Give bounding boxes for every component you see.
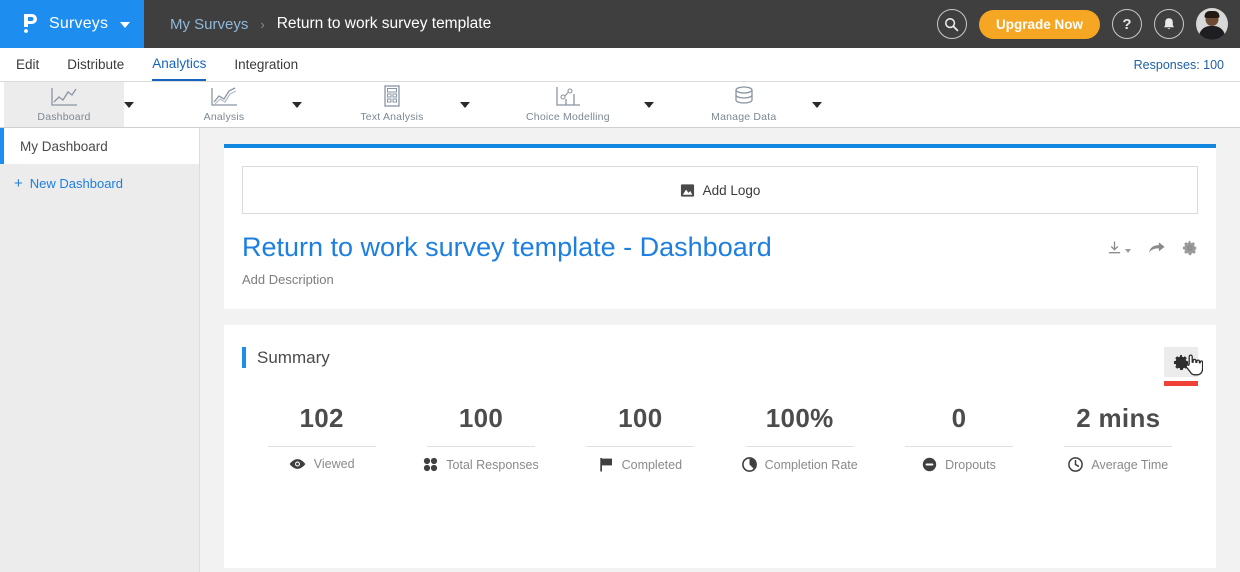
new-dashboard-button[interactable]: + New Dashboard [0, 164, 199, 202]
toolbar-text-analysis-inner: Text Analysis [332, 82, 452, 127]
search-button[interactable] [937, 9, 967, 39]
upgrade-now-button[interactable]: Upgrade Now [979, 10, 1100, 39]
workspace: My Dashboard + New Dashboard Add Logo Re… [0, 128, 1240, 572]
dashboard-header-card: Add Logo Return to work survey template … [224, 144, 1216, 309]
download-caret-icon[interactable] [1125, 249, 1131, 253]
metric-label: Completion Rate [765, 458, 858, 472]
metric-label: Average Time [1091, 458, 1168, 472]
summary-settings-button[interactable] [1164, 347, 1198, 377]
toolbar-choice-modelling-caret-icon[interactable] [644, 102, 654, 108]
tab-distribute[interactable]: Distribute [67, 48, 124, 81]
summary-accent-bar [242, 347, 246, 368]
metric-divider [1064, 446, 1172, 447]
bell-icon [1162, 17, 1176, 32]
four-dots-icon [423, 457, 438, 472]
database-icon [731, 86, 757, 108]
question-mark-icon: ? [1122, 17, 1131, 32]
text-grid-icon [381, 86, 403, 108]
toolbar-dashboard-inner: Dashboard [4, 82, 124, 127]
toolbar-item-analysis[interactable]: Analysis [160, 82, 328, 127]
eye-icon [289, 458, 306, 470]
breadcrumb-my-surveys[interactable]: My Surveys [170, 16, 248, 33]
download-icon [1107, 240, 1122, 256]
metric-divider [746, 446, 854, 447]
toolbar-item-manage-data[interactable]: Manage Data [680, 82, 848, 127]
metric-foot: Completed [599, 457, 682, 472]
breadcrumb: My Surveys › Return to work survey templ… [144, 0, 937, 48]
share-button[interactable] [1147, 240, 1166, 256]
metric-value: 100 [459, 403, 503, 434]
metric-divider [268, 446, 376, 447]
toolbar-analysis-caret-icon[interactable] [292, 102, 302, 108]
add-logo-button[interactable]: Add Logo [242, 166, 1198, 214]
summary-metrics: 102 Viewed 100 [242, 403, 1198, 472]
toolbar-manage-data-caret-icon[interactable] [812, 102, 822, 108]
metric-value: 2 mins [1076, 403, 1160, 434]
metric-divider [905, 446, 1013, 447]
metric-completion-rate: 100% Completion Rate [720, 403, 879, 472]
metric-foot: Total Responses [423, 457, 538, 472]
new-dashboard-label: New Dashboard [30, 176, 123, 191]
analytics-toolbar: Dashboard Analysis [0, 82, 1240, 128]
toolbar-analysis-inner: Analysis [164, 82, 284, 127]
top-header: Surveys My Surveys › Return to work surv… [0, 0, 1240, 48]
dashboard-content: Add Logo Return to work survey template … [200, 128, 1240, 572]
area-chart-icon [209, 86, 239, 108]
metric-average-time: 2 mins Average Time [1039, 403, 1198, 472]
pie-chart-icon [742, 457, 757, 472]
highlight-underline [1164, 381, 1198, 386]
minus-circle-icon [922, 457, 937, 472]
metric-foot: Viewed [289, 457, 355, 471]
user-avatar[interactable] [1196, 8, 1228, 40]
metric-label: Dropouts [945, 458, 996, 472]
summary-header: Summary [242, 347, 1198, 377]
metric-foot: Completion Rate [742, 457, 858, 472]
gear-icon [1173, 354, 1190, 371]
sidebar-item-my-dashboard[interactable]: My Dashboard [0, 128, 199, 164]
toolbar-analysis-label: Analysis [204, 111, 245, 123]
metric-divider [427, 446, 535, 447]
summary-title: Summary [257, 348, 330, 368]
toolbar-dashboard-label: Dashboard [37, 111, 90, 123]
breadcrumb-separator-icon: › [260, 17, 264, 32]
page-title[interactable]: Return to work survey template - Dashboa… [242, 232, 1107, 263]
line-chart-icon [49, 86, 79, 108]
scatter-chart-icon [554, 86, 582, 108]
dashboard-title-actions [1107, 232, 1198, 256]
summary-title-wrap: Summary [242, 347, 1164, 368]
avatar-body [1199, 26, 1225, 40]
flag-icon [599, 457, 614, 472]
metric-dropouts: 0 Dropouts [879, 403, 1038, 472]
toolbar-text-analysis-label: Text Analysis [360, 111, 423, 123]
add-logo-label: Add Logo [703, 183, 761, 198]
metric-total-responses: 100 Total Responses [401, 403, 560, 472]
p-logo-icon [20, 12, 40, 36]
metric-divider [586, 446, 694, 447]
primary-tabstrip: Edit Distribute Analytics Integration Re… [0, 48, 1240, 82]
metric-label: Total Responses [446, 458, 538, 472]
primary-tabs: Edit Distribute Analytics Integration [16, 48, 298, 81]
add-description-button[interactable]: Add Description [242, 272, 1198, 287]
plus-icon: + [14, 176, 23, 191]
metric-completed: 100 Completed [561, 403, 720, 472]
chevron-down-icon[interactable] [120, 22, 130, 28]
metric-foot: Dropouts [922, 457, 996, 472]
dashboard-title-row: Return to work survey template - Dashboa… [242, 232, 1198, 263]
header-actions: Upgrade Now ? [937, 0, 1240, 48]
metric-value: 0 [952, 403, 967, 434]
toolbar-item-dashboard[interactable]: Dashboard [0, 82, 160, 127]
toolbar-item-choice-modelling[interactable]: Choice Modelling [496, 82, 680, 127]
toolbar-item-text-analysis[interactable]: Text Analysis [328, 82, 496, 127]
toolbar-text-analysis-caret-icon[interactable] [460, 102, 470, 108]
metric-label: Viewed [314, 457, 355, 471]
tab-analytics[interactable]: Analytics [152, 48, 206, 81]
download-button[interactable] [1107, 240, 1131, 256]
toolbar-choice-modelling-inner: Choice Modelling [500, 82, 636, 127]
dashboard-sidebar: My Dashboard + New Dashboard [0, 128, 200, 572]
breadcrumb-current-survey: Return to work survey template [277, 15, 492, 33]
avatar-hair [1205, 11, 1220, 18]
metric-value: 100% [766, 403, 834, 434]
search-icon [944, 17, 959, 32]
clock-icon [1068, 457, 1083, 472]
toolbar-manage-data-label: Manage Data [711, 111, 776, 123]
image-icon [680, 183, 695, 198]
toolbar-dashboard-caret-icon[interactable] [124, 102, 134, 108]
metric-label: Completed [622, 458, 682, 472]
summary-card: Summary 102 [224, 325, 1216, 568]
responses-count: Responses: 100 [1134, 58, 1224, 72]
tab-integration[interactable]: Integration [234, 48, 298, 81]
share-icon [1147, 240, 1166, 256]
dashboard-settings-button[interactable] [1182, 240, 1198, 256]
metric-viewed: 102 Viewed [242, 403, 401, 472]
toolbar-manage-data-inner: Manage Data [684, 82, 804, 127]
brand-label: Surveys [49, 15, 108, 33]
gear-icon [1182, 240, 1198, 256]
toolbar-choice-modelling-label: Choice Modelling [526, 111, 610, 123]
metric-foot: Average Time [1068, 457, 1168, 472]
tab-edit[interactable]: Edit [16, 48, 39, 81]
metric-value: 102 [300, 403, 344, 434]
metric-value: 100 [618, 403, 662, 434]
notifications-button[interactable] [1154, 9, 1184, 39]
help-button[interactable]: ? [1112, 9, 1142, 39]
brand-menu[interactable]: Surveys [0, 0, 144, 48]
